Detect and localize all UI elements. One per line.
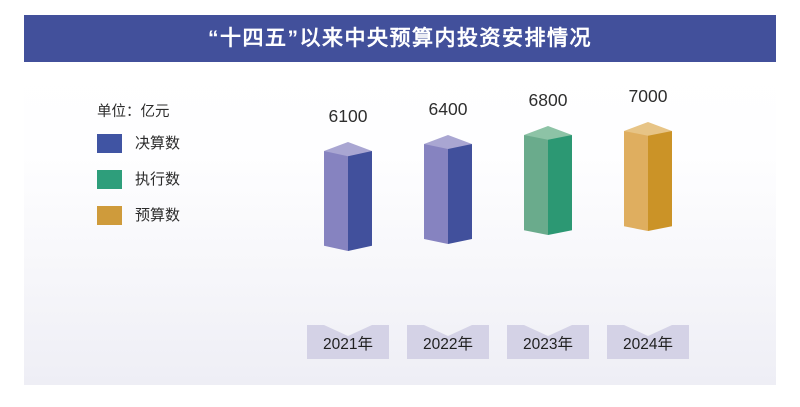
- bar-value-label: 6400: [403, 101, 493, 119]
- category-label-text: 2023年: [523, 337, 573, 353]
- bar-shaft: [624, 131, 672, 231]
- bar-3d-column[interactable]: [524, 126, 572, 322]
- bar-3d-column[interactable]: [424, 135, 472, 322]
- category-axis-labels: 2021年2022年2023年2024年: [24, 325, 776, 359]
- chart-plot-area: 单位：亿元 决算数 执行数 预算数 6100640068007000 2021年…: [24, 62, 776, 385]
- category-plate-notch: [524, 325, 572, 336]
- category-plate-notch: [624, 325, 672, 336]
- bar-group[interactable]: 6800: [524, 92, 572, 322]
- bar-face-left: [424, 144, 448, 244]
- bar-group[interactable]: 6100: [324, 108, 372, 322]
- chart-title-bar: “十四五”以来中央预算内投资安排情况: [24, 15, 776, 62]
- category-label-plate[interactable]: 2022年: [407, 325, 489, 359]
- bar-3d-column[interactable]: [324, 142, 372, 322]
- bar-group[interactable]: 7000: [624, 88, 672, 322]
- bar-3d-column[interactable]: [624, 122, 672, 322]
- bar-shaft: [324, 151, 372, 251]
- bar-face-left: [324, 151, 348, 251]
- bar-value-label: 6100: [303, 108, 393, 126]
- bar-value-label: 7000: [603, 88, 693, 106]
- category-label-text: 2024年: [623, 337, 673, 353]
- category-label-plate[interactable]: 2021年: [307, 325, 389, 359]
- bar-face-right: [648, 131, 672, 231]
- bar-face-right: [448, 144, 472, 244]
- page-title: “十四五”以来中央预算内投资安排情况: [208, 28, 592, 49]
- bar-face-left: [524, 135, 548, 235]
- bar-shaft: [524, 135, 572, 235]
- category-label-plate[interactable]: 2023年: [507, 325, 589, 359]
- infographic-card: “十四五”以来中央预算内投资安排情况 单位：亿元 决算数 执行数 预算数 610…: [24, 15, 776, 385]
- bar-face-left: [624, 131, 648, 231]
- category-label-text: 2021年: [323, 337, 373, 353]
- bar-face-right: [348, 151, 372, 251]
- bar-value-label: 6800: [503, 92, 593, 110]
- bar-shaft: [424, 144, 472, 244]
- category-label-plate[interactable]: 2024年: [607, 325, 689, 359]
- category-label-text: 2022年: [423, 337, 473, 353]
- bar-face-right: [548, 135, 572, 235]
- bar-group[interactable]: 6400: [424, 101, 472, 322]
- category-plate-notch: [324, 325, 372, 336]
- category-plate-notch: [424, 325, 472, 336]
